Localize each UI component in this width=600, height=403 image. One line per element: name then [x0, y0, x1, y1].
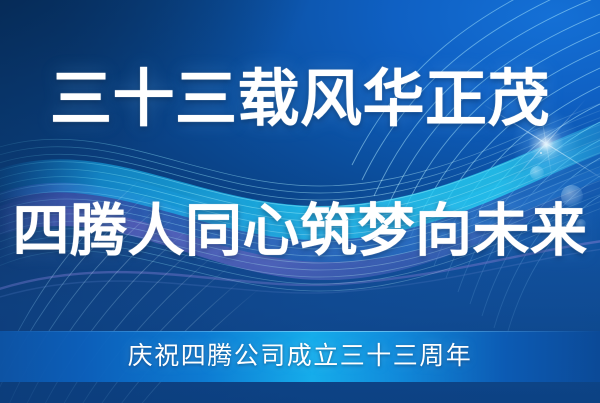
spark-dot-3 — [540, 152, 542, 154]
headline-line1: 三十三载风华正茂 — [50, 62, 550, 135]
subtitle-text: 庆祝四腾公司成立三十三周年 — [0, 336, 600, 376]
anniversary-poster: 三十三载风华正茂 四腾人同心筑梦向未来 庆祝四腾公司成立三十三周年 — [0, 0, 600, 403]
headline-line2-row: 四腾人同心筑梦向未来 — [0, 200, 600, 262]
headline-line1-row: 三十三载风华正茂 — [0, 66, 600, 132]
subtitle-band-top-edge — [0, 331, 600, 332]
bokeh-circle-medium — [530, 166, 544, 180]
headline-line2: 四腾人同心筑梦向未来 — [13, 198, 588, 264]
